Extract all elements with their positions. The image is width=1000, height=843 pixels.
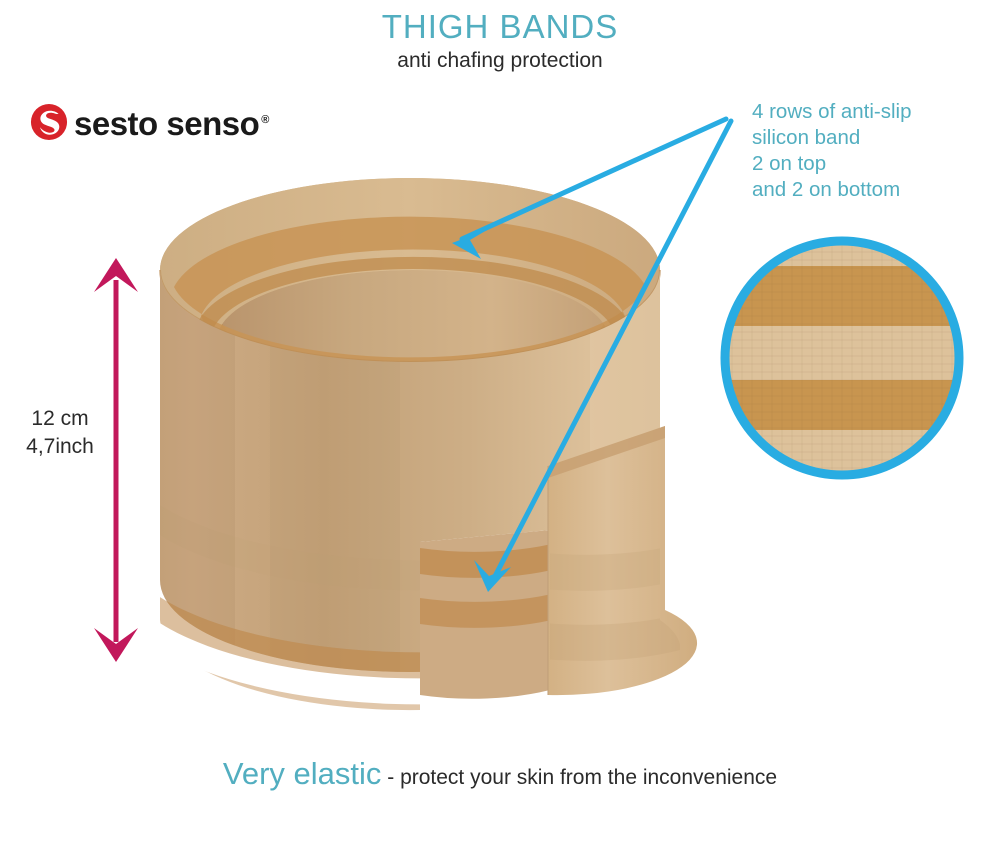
measurement-label: 12 cm 4,7inch: [12, 405, 108, 461]
annotation-line-2: silicon band: [752, 125, 982, 151]
page-title: THIGH BANDS: [0, 8, 1000, 46]
annotation-line-1: 4 rows of anti-slip: [752, 99, 982, 125]
sesto-senso-s-mark-icon: [30, 103, 68, 141]
measurement-imperial: 4,7inch: [12, 433, 108, 461]
footer-rest: - protect your skin from the inconvenien…: [381, 766, 777, 789]
annotation-line-3: 2 on top: [752, 151, 982, 177]
brand-name-text: sesto senso: [74, 105, 259, 142]
product-illustration: [120, 150, 720, 750]
infographic-page: THIGH BANDS anti chafing protection sest…: [0, 0, 1000, 843]
annotation-line-4: and 2 on bottom: [752, 177, 982, 203]
page-subtitle: anti chafing protection: [0, 48, 1000, 74]
trademark-symbol: ®: [261, 114, 269, 126]
fabric-closeup-circle: [716, 232, 968, 484]
band-opening-notch: [420, 530, 560, 715]
footer-highlight: Very elastic: [223, 756, 382, 791]
measurement-metric: 12 cm: [12, 405, 108, 433]
brand-logo: sesto senso®: [30, 100, 269, 144]
annotation-silicon-bands: 4 rows of anti-slip silicon band 2 on to…: [752, 99, 982, 203]
brand-name: sesto senso®: [74, 103, 269, 141]
footer-caption: Very elastic - protect your skin from th…: [0, 756, 1000, 792]
page-title-block: THIGH BANDS anti chafing protection: [0, 8, 1000, 74]
fabric-closeup-content: [716, 232, 968, 484]
